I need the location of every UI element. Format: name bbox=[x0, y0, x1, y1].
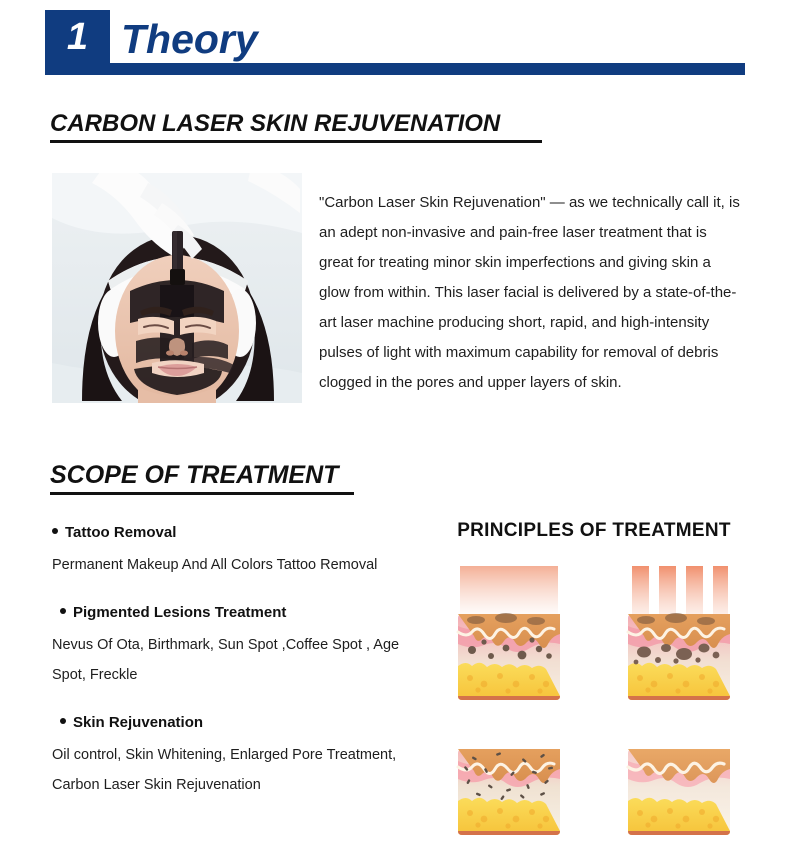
skin-cross-section-before bbox=[444, 560, 574, 715]
principles-section-title: PRINCIPLES OF TREATMENT bbox=[444, 520, 744, 542]
scope-item-description: Nevus Of Ota, Birthmark, Sun Spot ,Coffe… bbox=[52, 630, 432, 690]
carbon-section-heading-text: CARBON LASER SKIN REJUVENATION bbox=[50, 110, 500, 137]
scope-item-title: Tattoo Removal bbox=[52, 522, 432, 544]
skin-cross-section-laser bbox=[614, 560, 744, 715]
carbon-section-paragraph: "Carbon Laser Skin Rejuvenation" — as we… bbox=[319, 188, 743, 398]
header-rule-bar bbox=[110, 63, 745, 75]
scope-item-title-text: Tattoo Removal bbox=[65, 524, 176, 541]
principles-section: PRINCIPLES OF TREATMENT bbox=[444, 520, 744, 542]
skin-cross-section-fragmented bbox=[444, 733, 574, 853]
bullet-icon bbox=[60, 718, 66, 724]
scope-treatment-list: Tattoo Removal Permanent Makeup And All … bbox=[52, 522, 432, 800]
treatment-photo-illustration bbox=[52, 173, 302, 403]
page-title: Theory bbox=[121, 13, 258, 65]
principles-diagram-grid bbox=[444, 560, 754, 853]
skin-before-treatment-diagram bbox=[444, 560, 574, 715]
section-header: 1 Theory bbox=[45, 10, 745, 75]
clear-skin-after-treatment-diagram bbox=[614, 733, 744, 853]
section-number: 1 bbox=[45, 10, 110, 64]
scope-item-title-text: Pigmented Lesions Treatment bbox=[73, 604, 286, 621]
list-item: Skin Rejuvenation Oil control, Skin Whit… bbox=[52, 712, 432, 800]
scope-heading-underline bbox=[50, 492, 354, 495]
carbon-section-heading: CARBON LASER SKIN REJUVENATION bbox=[50, 110, 542, 143]
scope-section-heading-text: SCOPE OF TREATMENT bbox=[50, 461, 338, 489]
skin-cross-section-after bbox=[614, 733, 744, 853]
bullet-icon bbox=[52, 528, 58, 534]
bullet-icon bbox=[60, 608, 66, 614]
scope-item-description: Permanent Makeup And All Colors Tattoo R… bbox=[52, 550, 432, 580]
scope-item-title: Skin Rejuvenation bbox=[52, 712, 432, 734]
scope-item-title: Pigmented Lesions Treatment bbox=[52, 602, 432, 624]
carbon-heading-underline bbox=[50, 140, 542, 143]
pigment-fragmented-diagram bbox=[444, 733, 574, 853]
scope-section-heading: SCOPE OF TREATMENT bbox=[50, 461, 354, 495]
list-item: Tattoo Removal Permanent Makeup And All … bbox=[52, 522, 432, 580]
list-item: Pigmented Lesions Treatment Nevus Of Ota… bbox=[52, 602, 432, 690]
laser-beams-penetrating-skin-diagram bbox=[614, 560, 744, 715]
scope-item-title-text: Skin Rejuvenation bbox=[73, 714, 203, 731]
scope-item-description: Oil control, Skin Whitening, Enlarged Po… bbox=[52, 740, 432, 800]
carbon-mask-treatment-photo bbox=[52, 173, 302, 403]
